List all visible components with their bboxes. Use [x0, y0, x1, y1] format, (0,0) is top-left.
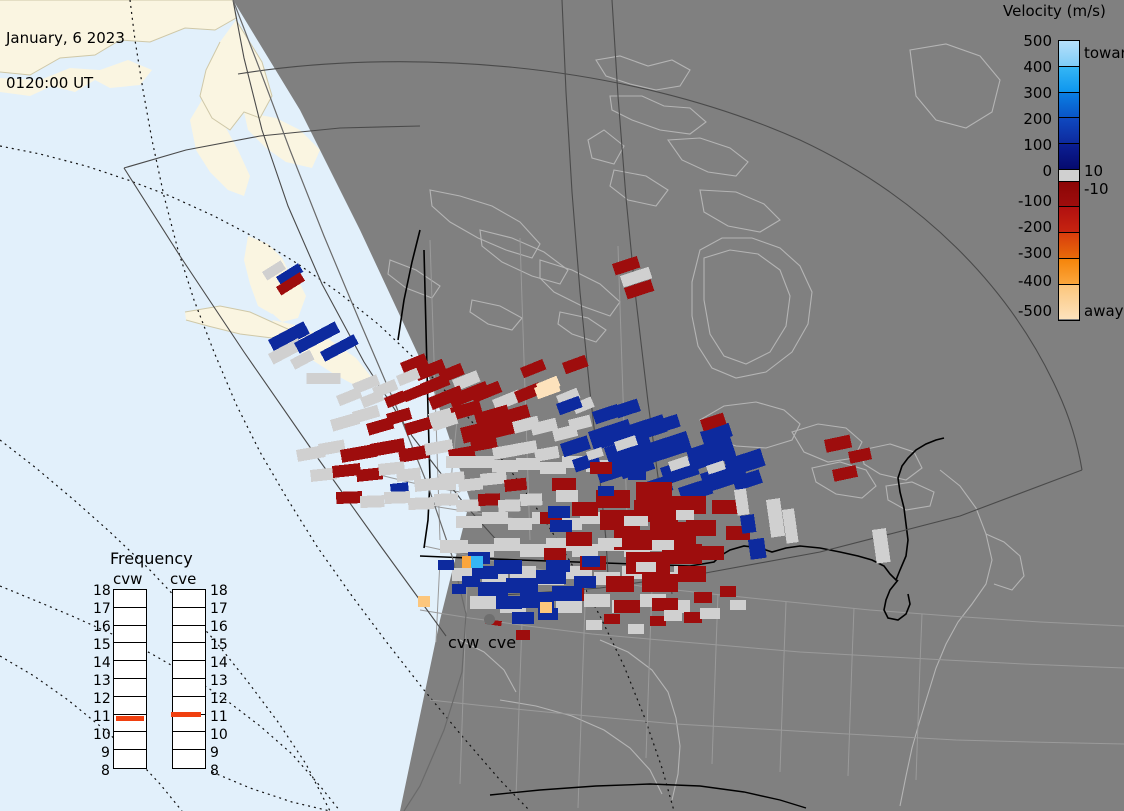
- colorbar-segment-100-200: [1059, 118, 1079, 144]
- freq-tick-cvw-9: 9: [101, 745, 110, 761]
- colorbar-segment-neg200-300: [1059, 233, 1079, 259]
- colorbar-tick-400: 400: [1000, 58, 1052, 76]
- radar-site-marker: [484, 614, 495, 625]
- freq-tick-cve-8: 8: [210, 763, 219, 779]
- frequency-marker-cve: [171, 712, 201, 717]
- colorbar-segment-300-400: [1059, 67, 1079, 93]
- colorbar-tick-neg500: -500: [1000, 302, 1052, 320]
- colorbar-segment-neg10-100: [1059, 182, 1079, 208]
- freq-tick-cve-11: 11: [210, 709, 228, 725]
- freq-tick-cvw-18: 18: [93, 583, 111, 599]
- freq-tick-cvw-15: 15: [93, 637, 111, 653]
- frequency-scale-cvw[interactable]: [113, 589, 147, 769]
- colorbar-mid-high-label: 10: [1084, 162, 1103, 180]
- freq-tick-cve-12: 12: [210, 691, 228, 707]
- colorbar-tick-500: 500: [1000, 32, 1052, 50]
- frequency-marker-cvw: [116, 716, 144, 721]
- freq-tick-cve-15: 15: [210, 637, 228, 653]
- colorbar-segment-neg300-400: [1059, 259, 1079, 285]
- map-layer: [0, 0, 1124, 811]
- colorbar-tick-300: 300: [1000, 84, 1052, 102]
- freq-tick-cve-18: 18: [210, 583, 228, 599]
- colorbar-title: Velocity (m/s): [1003, 2, 1106, 20]
- colorbar-tick-neg400: -400: [1000, 272, 1052, 290]
- freq-tick-cvw-16: 16: [93, 619, 111, 635]
- velocity-colorbar[interactable]: [1058, 40, 1080, 321]
- colorbar-tick-neg200: -200: [1000, 218, 1052, 236]
- colorbar-tick-100: 100: [1000, 136, 1052, 154]
- freq-tick-cve-17: 17: [210, 601, 228, 617]
- freq-tick-cvw-10: 10: [93, 727, 111, 743]
- colorbar-segment-neg100-200: [1059, 207, 1079, 233]
- colorbar-segment-200-300: [1059, 93, 1079, 119]
- colorbar-segment-ground-scatter: [1059, 170, 1079, 182]
- colorbar-tick-neg300: -300: [1000, 244, 1052, 262]
- frequency-scale-cve[interactable]: [172, 589, 206, 769]
- freq-tick-cve-10: 10: [210, 727, 228, 743]
- freq-tick-cvw-13: 13: [93, 673, 111, 689]
- freq-tick-cve-14: 14: [210, 655, 228, 671]
- cell-away-moderate: [462, 556, 471, 568]
- time-text: 0120:00 UT: [6, 76, 125, 91]
- freq-tick-cve-9: 9: [210, 745, 219, 761]
- colorbar-segment-400-500: [1059, 41, 1079, 67]
- freq-tick-cvw-11: 11: [93, 709, 111, 725]
- frequency-legend-title: Frequency: [110, 549, 193, 568]
- colorbar-tick-0: 0: [1000, 162, 1052, 180]
- freq-tick-cvw-14: 14: [93, 655, 111, 671]
- frequency-column-label-cvw: cvw: [113, 570, 142, 588]
- freq-tick-cve-13: 13: [210, 673, 228, 689]
- date-text: January, 6 2023: [6, 31, 125, 46]
- colorbar-away-label: away: [1084, 302, 1124, 320]
- freq-tick-cvw-8: 8: [101, 763, 110, 779]
- colorbar-tick-neg100: -100: [1000, 192, 1052, 210]
- radar-site-label-cve: cve: [488, 633, 516, 652]
- colorbar-segment-10-100: [1059, 144, 1079, 170]
- frequency-column-label-cve: cve: [170, 570, 196, 588]
- fanplot-canvas: January, 6 2023 0120:00 UT Velocity (m/s…: [0, 0, 1124, 811]
- radar-site-label-cvw: cvw: [448, 633, 479, 652]
- datetime-stamp: January, 6 2023 0120:00 UT: [6, 1, 125, 121]
- freq-tick-cvw-17: 17: [93, 601, 111, 617]
- colorbar-toward-label: toward: [1084, 44, 1124, 62]
- colorbar-mid-low-label: -10: [1084, 180, 1109, 198]
- colorbar-segment-neg400-500: [1059, 285, 1079, 319]
- freq-tick-cve-16: 16: [210, 619, 228, 635]
- colorbar-tick-200: 200: [1000, 110, 1052, 128]
- cell-high-toward: [470, 556, 483, 568]
- freq-tick-cvw-12: 12: [93, 691, 111, 707]
